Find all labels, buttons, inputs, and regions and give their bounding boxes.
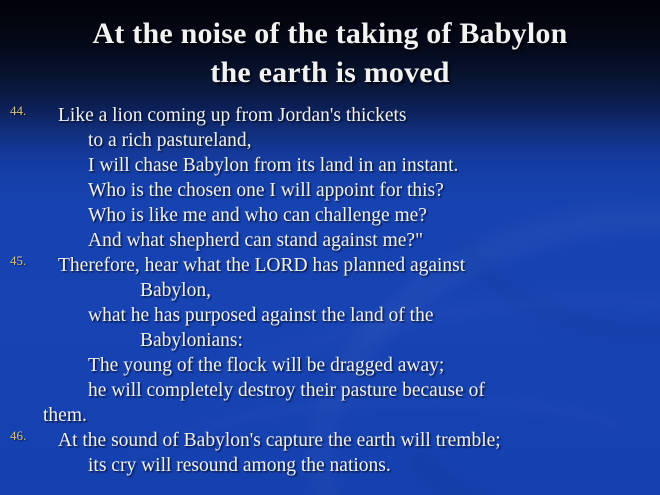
verse-number: 44. bbox=[10, 103, 44, 119]
verse-line: its cry will resound among the nations. bbox=[0, 453, 660, 478]
verse-line: The young of the flock will be dragged a… bbox=[0, 353, 660, 378]
verse-line: I will chase Babylon from its land in an… bbox=[0, 153, 660, 178]
verse-line: Therefore, hear what the LORD has planne… bbox=[0, 253, 660, 278]
verse-line: And what shepherd can stand against me?" bbox=[0, 228, 660, 253]
slide-title-line-1: At the noise of the taking of Babylon bbox=[0, 14, 660, 53]
verse-block: 44.Like a lion coming up from Jordan's t… bbox=[0, 103, 660, 253]
verse-line: Babylon, bbox=[0, 278, 660, 303]
verse-line: he will completely destroy their pasture… bbox=[0, 378, 660, 403]
verse-line: them. bbox=[0, 403, 660, 428]
scripture-body: 44.Like a lion coming up from Jordan's t… bbox=[0, 103, 660, 478]
verse-line: Babylonians: bbox=[0, 328, 660, 353]
verse-line: At the sound of Babylon's capture the ea… bbox=[0, 428, 660, 453]
verse-block: 46.At the sound of Babylon's capture the… bbox=[0, 428, 660, 478]
verse-block: 45.Therefore, hear what the LORD has pla… bbox=[0, 253, 660, 428]
verse-number: 45. bbox=[10, 253, 44, 269]
presentation-slide: At the noise of the taking of Babylon th… bbox=[0, 0, 660, 495]
verse-line: what he has purposed against the land of… bbox=[0, 303, 660, 328]
verse-line: to a rich pastureland, bbox=[0, 128, 660, 153]
verse-line: Who is the chosen one I will appoint for… bbox=[0, 178, 660, 203]
verse-number: 46. bbox=[10, 428, 44, 444]
slide-title-line-2: the earth is moved bbox=[0, 53, 660, 92]
verse-line: Who is like me and who can challenge me? bbox=[0, 203, 660, 228]
verse-line: Like a lion coming up from Jordan's thic… bbox=[0, 103, 660, 128]
slide-content: At the noise of the taking of Babylon th… bbox=[0, 0, 660, 495]
slide-title: At the noise of the taking of Babylon th… bbox=[0, 14, 660, 92]
